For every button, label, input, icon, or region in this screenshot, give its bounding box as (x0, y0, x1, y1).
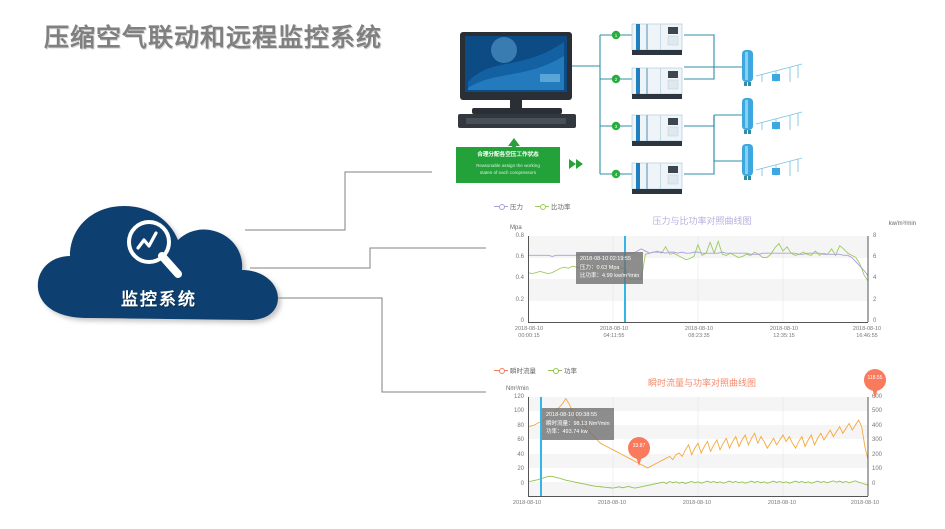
legend-marker-icon (535, 203, 549, 210)
legend-item-power[interactable]: 功率 (548, 365, 577, 375)
chart2-tooltip: 2018-08-10 00:38:55 瞬时流量：98.13 Nm³/min 功… (542, 408, 614, 440)
status-dots: 1 2 3 4 (612, 31, 620, 178)
chart2-y2tick: 100 (872, 466, 892, 472)
legend-label: 压力 (510, 201, 523, 211)
tooltip-timestamp: 2018-08-10 02:19:55 (580, 255, 639, 264)
legend-marker-icon (494, 203, 508, 210)
tooltip-row-pressure: 压力：0.63 Mpa (580, 264, 639, 273)
chart1-y2tick: 6 (873, 254, 887, 260)
chart1-xtick: 2018-08-10 12:35:15 (755, 326, 813, 340)
chart1-legend: 压力 比功率 (494, 201, 571, 211)
chart2-xtick: 2018-08-10 (753, 500, 811, 507)
legend-item-specific-power[interactable]: 比功率 (535, 201, 571, 211)
chart2-ytick: 40 (502, 452, 524, 458)
chart1-ytick: 0 (504, 318, 524, 324)
chart1-xtick: 2018-08-10 04:11:55 (585, 326, 643, 340)
chart1-title: 压力与比功率对照曲线图 (486, 214, 918, 227)
cloud-label: 监控系统 (28, 285, 290, 310)
legend-item-flow[interactable]: 瞬时流量 (494, 365, 536, 375)
marker-label: 33.87 (628, 443, 650, 449)
compressor-units (632, 24, 682, 194)
chart1-tooltip: 2018-08-10 02:19:55 压力：0.63 Mpa 比功率：4.99… (576, 252, 643, 284)
chart2-y2tick: 200 (872, 452, 892, 458)
legend-label: 瞬时流量 (510, 365, 536, 375)
chart1-y2tick: 0 (873, 318, 887, 324)
chart1-ytick: 0.4 (504, 275, 524, 281)
magnifier-chart-icon (120, 218, 190, 280)
max-marker-balloon[interactable]: 118.55 (864, 369, 886, 399)
chart1-y2tick: 4 (873, 275, 887, 281)
legend-marker-icon (548, 367, 562, 374)
chart2-y2tick: 400 (872, 423, 892, 429)
tooltip-timestamp: 2018-08-10 00:38:55 (546, 411, 610, 420)
chart1-xtick: 2018-08-10 16:46:55 (838, 326, 896, 340)
chart2-xtick: 2018-08-10 (583, 500, 641, 507)
chart2-title: 瞬时流量与功率对照曲线图 (486, 376, 918, 389)
tooltip-row-specific-power: 比功率：4.99 kw/m³/min (580, 272, 639, 281)
chart1-ytick: 0.2 (504, 297, 524, 303)
chart1-y2tick: 2 (873, 297, 887, 303)
tooltip-row-power: 功率：493.74 kw (546, 428, 610, 437)
chart2-y2tick: 0 (872, 481, 892, 487)
chart2-legend: 瞬时流量 功率 (494, 365, 577, 375)
air-tank-units (742, 50, 802, 180)
chart2-ytick: 120 (502, 394, 524, 400)
legend-item-pressure[interactable]: 压力 (494, 201, 523, 211)
tooltip-row-flow: 瞬时流量：98.13 Nm³/min (546, 420, 610, 429)
chart2-y-unit: Nm³/min (506, 386, 529, 392)
chart2-ytick: 80 (502, 423, 524, 429)
chart2-xtick: 2018-08-10 (836, 500, 894, 507)
chart2-ytick: 60 (502, 437, 524, 443)
chart1-xtick: 2018-08-10 00:00:15 (500, 326, 558, 340)
chart1-y-unit: Mpa (510, 225, 522, 231)
chart-pressure-vs-specific-power: 压力 比功率 压力与比功率对照曲线图 Mpa kw/m³/min 0.8 0.6 (486, 200, 918, 340)
chart1-y2-unit: kw/m³/min (889, 221, 916, 227)
chart1-ytick: 0.8 (504, 233, 524, 239)
chart2-ytick: 20 (502, 466, 524, 472)
chart2-ytick: 100 (502, 408, 524, 414)
chart1-y2tick: 8 (873, 233, 887, 239)
chart2-y2tick: 300 (872, 437, 892, 443)
chart2-y2tick: 500 (872, 408, 892, 414)
legend-label: 功率 (564, 365, 577, 375)
marker-label: 118.55 (864, 375, 886, 381)
chart-flow-vs-power: 瞬时流量 功率 瞬时流量与功率对照曲线图 Nm³/min 120 100 (486, 364, 918, 529)
system-diagram: 现场用气量反馈主控中心 Air delivery feedback of mai… (432, 22, 932, 202)
legend-label: 比功率 (551, 201, 571, 211)
piping (572, 35, 742, 174)
chart1-xtick: 2018-08-10 08:23:35 (670, 326, 728, 340)
chart2-xtick: 2018-08-10 (498, 500, 556, 507)
page-title: 压缩空气联动和远程监控系统 (44, 18, 382, 54)
chart2-ytick: 0 (502, 481, 524, 487)
chart2-xtick: 2018-08-10 (668, 500, 726, 507)
legend-marker-icon (494, 367, 508, 374)
chart1-ytick: 0.6 (504, 254, 524, 260)
min-marker-balloon[interactable]: 33.87 (628, 437, 650, 467)
